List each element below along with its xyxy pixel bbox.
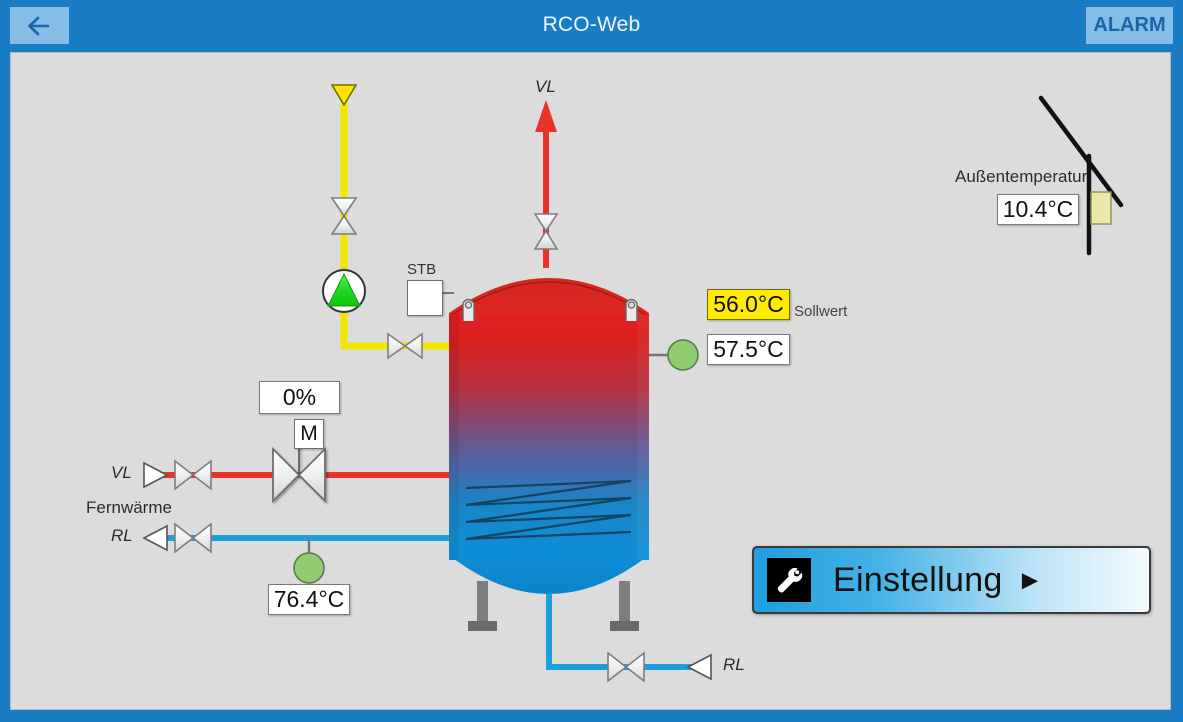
schematic-canvas: VL STB VL Fernwärme RL RL Außentemperatu… (10, 52, 1171, 710)
sensor-tank-temperature[interactable] (649, 340, 698, 370)
motor-symbol-box: M (294, 419, 324, 449)
wrench-icon (767, 558, 811, 602)
label-rl-left: RL (111, 526, 133, 546)
tank-leg-right (610, 581, 639, 631)
label-vl-left: VL (111, 463, 132, 483)
tank-lug-left (463, 300, 474, 322)
tank-leg-left (468, 581, 497, 631)
valve-position-value[interactable]: 0% (259, 381, 340, 414)
page-title: RCO-Web (0, 0, 1183, 50)
tank-temperature-value[interactable]: 57.5°C (707, 334, 790, 365)
air-vent-triangle (332, 85, 356, 105)
valve-solar-vertical[interactable] (332, 198, 356, 234)
valve-return-shutoff[interactable] (175, 524, 211, 552)
outdoor-temperature-value[interactable]: 10.4°C (997, 194, 1079, 225)
play-arrow-icon: ► (1017, 567, 1044, 594)
label-fernwaerme: Fernwärme (86, 498, 172, 518)
tank-lug-right (626, 300, 637, 322)
return-temperature-value[interactable]: 76.4°C (268, 584, 350, 615)
label-rl-bottom: RL (723, 655, 745, 675)
einstellung-button[interactable]: Einstellung ► (752, 546, 1151, 614)
stb-box[interactable] (407, 280, 443, 316)
pump-solar[interactable] (323, 270, 365, 312)
label-sollwert: Sollwert (794, 303, 847, 320)
label-vl-top: VL (535, 77, 556, 97)
valve-solar-horizontal[interactable] (388, 334, 422, 358)
sensor-return-temperature[interactable] (294, 538, 324, 583)
title-bar: RCO-Web ALARM (0, 0, 1183, 50)
setpoint-value[interactable]: 56.0°C (707, 289, 790, 320)
valve-supply-shutoff[interactable] (175, 461, 211, 489)
valve-return-bottom[interactable] (608, 653, 644, 681)
einstellung-label: Einstellung (833, 561, 1003, 600)
label-aussentemperatur: Außentemperatur (955, 167, 1087, 187)
label-stb: STB (407, 261, 436, 278)
alarm-button[interactable]: ALARM (1086, 7, 1173, 44)
storage-tank (449, 278, 649, 631)
valve-flow-top[interactable] (535, 214, 557, 249)
